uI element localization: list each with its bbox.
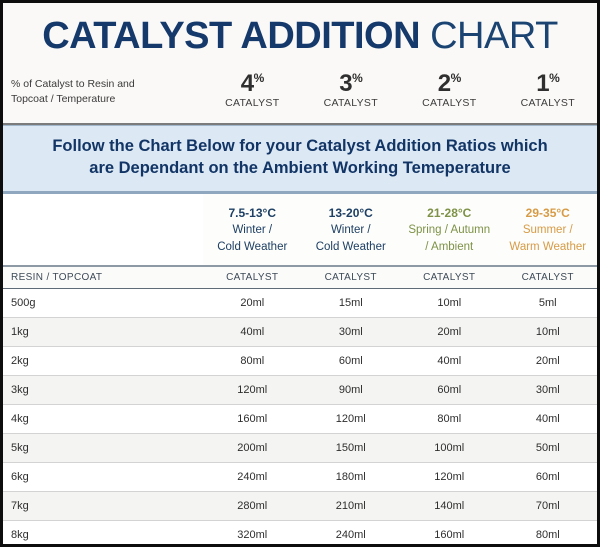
row-cell: 30ml — [302, 318, 401, 347]
row-cell: 20ml — [203, 289, 302, 318]
temperature-season-3-line1: Spring / Autumn — [402, 222, 497, 239]
row-cell: 320ml — [203, 521, 302, 547]
row-label: 1kg — [3, 318, 203, 347]
temperature-season-3-line2: / Ambient — [402, 239, 497, 256]
row-cell: 60ml — [499, 463, 598, 492]
instruction-banner: Follow the Chart Below for your Catalyst… — [3, 125, 597, 194]
row-cell: 60ml — [400, 376, 499, 405]
row-cell: 80ml — [400, 405, 499, 434]
percent-header-cell-4: 4% CATALYST — [203, 69, 302, 109]
row-cell: 80ml — [203, 347, 302, 376]
percent-number-1: 1 — [536, 70, 549, 97]
row-label: 8kg — [3, 521, 203, 547]
percent-number-3: 3 — [339, 70, 352, 97]
percent-value-4: 4% — [203, 71, 302, 96]
row-label: 3kg — [3, 376, 203, 405]
page-title: CATALYST ADDITION CHART — [42, 17, 558, 55]
temperature-range-3: 21-28°C — [402, 204, 497, 222]
instruction-banner-line2: are Dependant on the Ambient Working Tem… — [17, 157, 583, 179]
row-label: 7kg — [3, 492, 203, 521]
percent-sub-1: CATALYST — [499, 97, 598, 109]
temperature-season-4-line1: Summer / — [501, 222, 596, 239]
row-cell: 150ml — [302, 434, 401, 463]
table-row: 8kg 320ml 240ml 160ml 80ml — [3, 521, 597, 547]
row-cell: 120ml — [400, 463, 499, 492]
row-cell: 40ml — [203, 318, 302, 347]
percent-symbol-4: % — [254, 71, 264, 85]
percent-header-label-line2: Topcoat / Temperature — [11, 92, 203, 107]
title-bar: CATALYST ADDITION CHART — [3, 3, 597, 69]
row-cell: 140ml — [400, 492, 499, 521]
column-subheader-3: CATALYST — [400, 266, 499, 289]
percent-value-1: 1% — [499, 71, 598, 96]
percent-header-cell-3: 3% CATALYST — [302, 69, 401, 109]
percent-header-cell-2: 2% CATALYST — [400, 69, 499, 109]
percent-header-row: % of Catalyst to Resin and Topcoat / Tem… — [3, 69, 597, 125]
percent-value-3: 3% — [302, 71, 401, 96]
percent-header-cells: 4% CATALYST 3% CATALYST 2% CATALYST 1% C… — [203, 69, 597, 109]
column-subheader-4: CATALYST — [499, 266, 598, 289]
percent-sub-2: CATALYST — [400, 97, 499, 109]
row-cell: 50ml — [499, 434, 598, 463]
row-cell: 5ml — [499, 289, 598, 318]
percent-symbol-2: % — [451, 71, 461, 85]
page-title-bold: CATALYST ADDITION — [42, 15, 420, 57]
percent-sub-3: CATALYST — [302, 97, 401, 109]
row-label: 5kg — [3, 434, 203, 463]
temperature-header-row: 7.5-13°C Winter / Cold Weather 13-20°C W… — [3, 194, 597, 267]
percent-sub-4: CATALYST — [203, 97, 302, 109]
row-cell: 60ml — [302, 347, 401, 376]
catalyst-ratio-table: 7.5-13°C Winter / Cold Weather 13-20°C W… — [3, 194, 597, 547]
row-cell: 120ml — [203, 376, 302, 405]
row-cell: 240ml — [203, 463, 302, 492]
column-subheader-2: CATALYST — [302, 266, 401, 289]
temperature-header-col-1: 7.5-13°C Winter / Cold Weather — [203, 194, 302, 267]
column-subheader-row: RESIN / TOPCOAT CATALYST CATALYST CATALY… — [3, 266, 597, 289]
row-cell: 180ml — [302, 463, 401, 492]
row-cell: 10ml — [400, 289, 499, 318]
page-title-light: CHART — [430, 15, 558, 57]
row-cell: 15ml — [302, 289, 401, 318]
catalyst-addition-chart: CATALYST ADDITION CHART % of Catalyst to… — [0, 0, 600, 547]
row-cell: 70ml — [499, 492, 598, 521]
catalyst-ratio-rows: 500g 20ml 15ml 10ml 5ml 1kg 40ml 30ml 20… — [3, 289, 597, 547]
table-row: 5kg 200ml 150ml 100ml 50ml — [3, 434, 597, 463]
instruction-banner-line1: Follow the Chart Below for your Catalyst… — [17, 135, 583, 157]
row-cell: 20ml — [400, 318, 499, 347]
temperature-range-2: 13-20°C — [304, 204, 399, 222]
temperature-range-4: 29-35°C — [501, 204, 596, 222]
temperature-header-col-4: 29-35°C Summer / Warm Weather — [499, 194, 598, 267]
percent-number-4: 4 — [241, 70, 254, 97]
table-row: 500g 20ml 15ml 10ml 5ml — [3, 289, 597, 318]
percent-number-2: 2 — [438, 70, 451, 97]
row-cell: 90ml — [302, 376, 401, 405]
row-cell: 280ml — [203, 492, 302, 521]
percent-value-2: 2% — [400, 71, 499, 96]
percent-symbol-1: % — [549, 71, 559, 85]
row-cell: 30ml — [499, 376, 598, 405]
column-subheader-1: CATALYST — [203, 266, 302, 289]
row-cell: 40ml — [400, 347, 499, 376]
temperature-header-col-3: 21-28°C Spring / Autumn / Ambient — [400, 194, 499, 267]
table-row: 4kg 160ml 120ml 80ml 40ml — [3, 405, 597, 434]
row-label: 4kg — [3, 405, 203, 434]
table-row: 1kg 40ml 30ml 20ml 10ml — [3, 318, 597, 347]
row-cell: 200ml — [203, 434, 302, 463]
row-cell: 160ml — [400, 521, 499, 547]
table-row: 3kg 120ml 90ml 60ml 30ml — [3, 376, 597, 405]
percent-symbol-3: % — [352, 71, 362, 85]
table-row: 6kg 240ml 180ml 120ml 60ml — [3, 463, 597, 492]
percent-header-label-line1: % of Catalyst to Resin and — [11, 77, 203, 92]
row-cell: 40ml — [499, 405, 598, 434]
row-cell: 10ml — [499, 318, 598, 347]
column-header-resin-topcoat: RESIN / TOPCOAT — [3, 266, 203, 289]
temperature-header-blank-cell — [3, 194, 203, 267]
temperature-season-1-line2: Cold Weather — [205, 239, 300, 256]
percent-header-label: % of Catalyst to Resin and Topcoat / Tem… — [3, 69, 203, 107]
temperature-range-1: 7.5-13°C — [205, 204, 300, 222]
row-label: 500g — [3, 289, 203, 318]
temperature-header-col-2: 13-20°C Winter / Cold Weather — [302, 194, 401, 267]
row-cell: 20ml — [499, 347, 598, 376]
row-cell: 240ml — [302, 521, 401, 547]
row-cell: 160ml — [203, 405, 302, 434]
table-row: 7kg 280ml 210ml 140ml 70ml — [3, 492, 597, 521]
row-cell: 120ml — [302, 405, 401, 434]
temperature-season-4-line2: Warm Weather — [501, 239, 596, 256]
temperature-season-2-line1: Winter / — [304, 222, 399, 239]
row-label: 2kg — [3, 347, 203, 376]
table-row: 2kg 80ml 60ml 40ml 20ml — [3, 347, 597, 376]
row-label: 6kg — [3, 463, 203, 492]
row-cell: 80ml — [499, 521, 598, 547]
row-cell: 210ml — [302, 492, 401, 521]
temperature-season-2-line2: Cold Weather — [304, 239, 399, 256]
row-cell: 100ml — [400, 434, 499, 463]
percent-header-cell-1: 1% CATALYST — [499, 69, 598, 109]
temperature-season-1-line1: Winter / — [205, 222, 300, 239]
